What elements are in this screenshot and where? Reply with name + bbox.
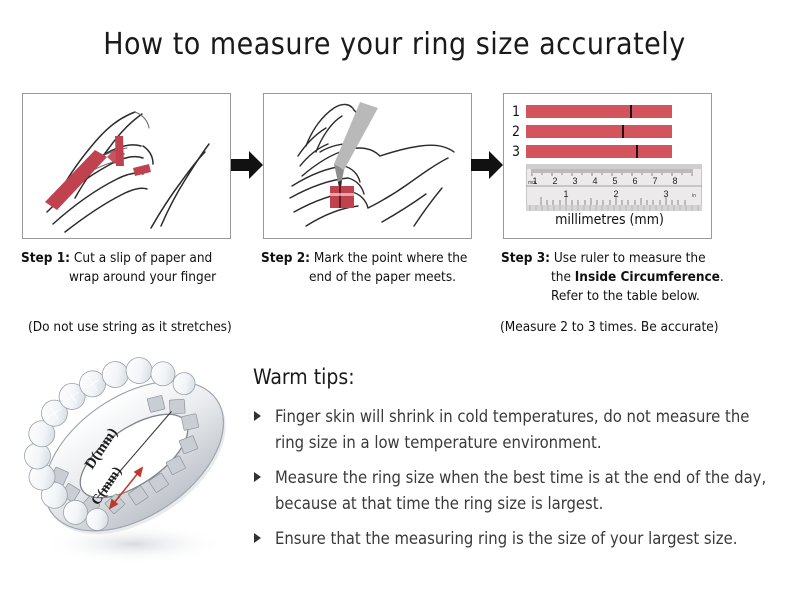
triangle-bullet-icon (254, 411, 261, 421)
ruler-mm-label: mm (528, 180, 536, 186)
ruler-inch-label: in (692, 193, 696, 199)
strip-row: 2 (512, 123, 707, 140)
hand-marking-paper-with-pen-illustration (264, 94, 471, 238)
measured-strips-group: 1 2 3 (512, 103, 707, 163)
svg-text:2: 2 (552, 176, 557, 186)
page-title: How to measure your ring size accurately (0, 27, 789, 62)
svg-text:7: 7 (652, 176, 657, 186)
step-1-caption: Step 1: Cut a slip of paper and wrap aro… (21, 249, 251, 287)
step-2-label: Step 2: (261, 250, 310, 266)
strip-bar (526, 145, 672, 158)
step-2-line2: end of the paper meets. (261, 268, 491, 287)
strip-row: 3 (512, 143, 707, 160)
eternity-ring-illustration: D(mm) C(mm) (14, 348, 258, 576)
warm-tip-item: Finger skin will shrink in cold temperat… (253, 404, 773, 456)
strip-tick-mark (636, 145, 638, 158)
strip-tick-mark (622, 125, 624, 138)
step-3-line2-prefix: the (551, 269, 575, 285)
steps-illustrations-row: 1 2 3 (0, 93, 789, 241)
step-1-note: (Do not use string as it stretches) (28, 318, 232, 336)
warm-tips-section: Warm tips: Finger skin will shrink in co… (253, 364, 773, 561)
step-2-line1: Mark the point where the (314, 250, 468, 266)
arrow-right-icon-1 (231, 148, 264, 182)
panel-mark-paper (263, 93, 472, 239)
warm-tip-text: Ensure that the measuring ring is the si… (275, 529, 737, 548)
svg-text:8: 8 (672, 176, 677, 186)
triangle-bullet-icon (254, 533, 261, 543)
step-1-label: Step 1: (21, 250, 70, 266)
panel-hand-paper-strip (22, 93, 231, 239)
step-1-line2: wrap around your finger (21, 268, 251, 287)
warm-tip-item: Measure the ring size when the best time… (253, 465, 773, 517)
strip-number: 3 (512, 145, 526, 159)
step-3-label: Step 3: (501, 250, 550, 266)
svg-text:6: 6 (632, 176, 637, 186)
strip-tick-mark (630, 105, 632, 118)
paper-strip-shape (330, 186, 354, 208)
svg-text:3: 3 (572, 176, 577, 186)
step-3-caption: Step 3: Use ruler to measure the the Ins… (501, 249, 751, 306)
strip-bar (526, 125, 672, 138)
warm-tip-text: Measure the ring size when the best time… (275, 468, 766, 513)
step-3-note: (Measure 2 to 3 times. Be accurate) (500, 318, 718, 336)
step-1-line1: Cut a slip of paper and (74, 250, 212, 266)
strip-number: 1 (512, 105, 526, 119)
strip-row: 1 (512, 103, 707, 120)
strip-number: 2 (512, 125, 526, 139)
warm-tips-heading: Warm tips: (253, 364, 773, 390)
svg-text:5: 5 (612, 176, 617, 186)
pen-shape (334, 102, 378, 188)
paper-strip-shape (45, 136, 151, 210)
step-3-line2: the Inside Circumference. (501, 268, 751, 287)
ring-diagram: D(mm) C(mm) (14, 348, 258, 576)
strip-bar (526, 105, 672, 118)
hand-with-paper-strip-illustration (23, 94, 230, 238)
step-2-caption: Step 2: Mark the point where the end of … (261, 249, 491, 287)
step-3-line3: Refer to the table below. (501, 287, 751, 306)
panel-ruler-measure: 1 2 3 (503, 93, 712, 239)
warm-tip-item: Ensure that the measuring ring is the si… (253, 526, 773, 552)
svg-text:4: 4 (592, 176, 597, 186)
step-3-line1: Use ruler to measure the (554, 250, 706, 266)
step-3-inside-circumference: Inside Circumference (575, 269, 720, 285)
arrow-right-icon-2 (471, 148, 504, 182)
ruler-illustration: 1 2 3 4 5 6 7 8 mm 1 2 3 in (526, 164, 702, 211)
warm-tip-text: Finger skin will shrink in cold temperat… (275, 407, 749, 452)
triangle-bullet-icon (254, 472, 261, 482)
unit-caption: millimetres (mm) (512, 212, 707, 228)
step-3-line2-suffix: . (720, 269, 724, 285)
